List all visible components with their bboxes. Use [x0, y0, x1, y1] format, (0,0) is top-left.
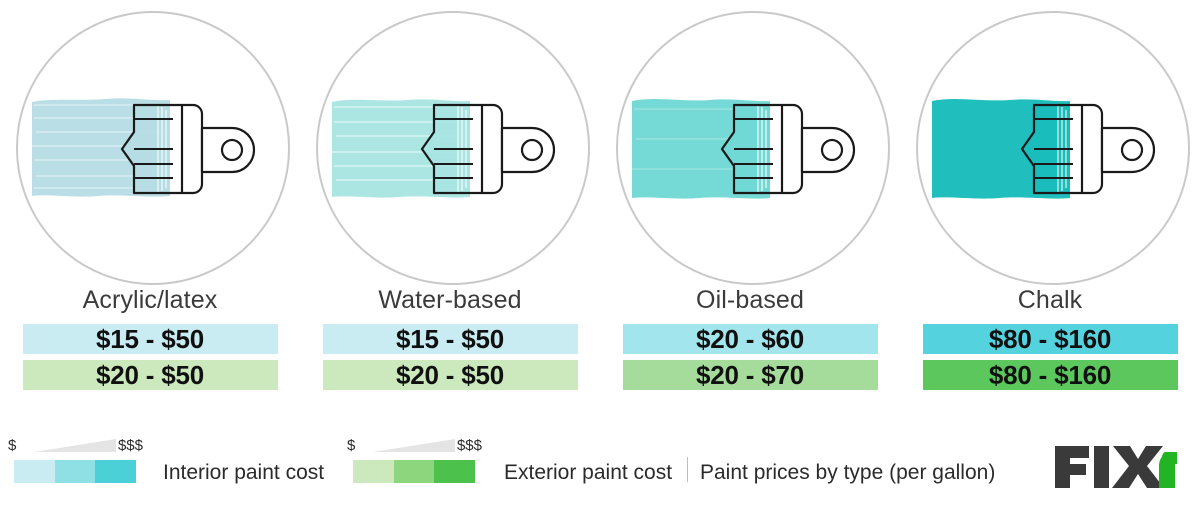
- interior-low-cost-symbol: $: [8, 438, 16, 453]
- legend-exterior: $ $$$: [347, 438, 482, 486]
- paintbrush-icon: [610, 6, 890, 290]
- paintbrush-illustration-2: [310, 6, 590, 290]
- exterior-high-cost-symbol: $$$: [457, 438, 482, 453]
- interior-price-bar: $15 - $50: [23, 324, 278, 354]
- exterior-swatch-3: [434, 460, 475, 483]
- interior-swatch-1: [14, 460, 55, 483]
- chart-caption: Paint prices by type (per gallon): [700, 462, 995, 483]
- price-bars: $15 - $50 $20 - $50: [23, 324, 278, 390]
- interior-price-bar: $80 - $160: [923, 324, 1178, 354]
- exterior-price-bar: $20 - $70: [623, 360, 878, 390]
- paintbrush-icon: [910, 6, 1190, 290]
- paintbrush-illustration-4: [910, 6, 1190, 290]
- exterior-legend-label: Exterior paint cost: [504, 462, 672, 483]
- paintbrush-illustration-1: [10, 6, 290, 290]
- exterior-price-bar: $80 - $160: [923, 360, 1178, 390]
- paintbrush-icon: [10, 6, 290, 290]
- interior-high-cost-symbol: $$$: [118, 438, 143, 453]
- price-bars: $20 - $60 $20 - $70: [623, 324, 878, 390]
- exterior-price-bar: $20 - $50: [23, 360, 278, 390]
- price-bars: $80 - $160 $80 - $160: [923, 324, 1178, 390]
- exterior-swatch-2: [394, 460, 435, 483]
- interior-price-bar: $15 - $50: [323, 324, 578, 354]
- cost-gradient-wedge-icon: [373, 439, 455, 453]
- paintbrush-illustration-3: [610, 6, 890, 290]
- exterior-low-cost-symbol: $: [347, 438, 355, 453]
- paint-type-column-water-based: Water-based $15 - $50 $20 - $50: [300, 0, 600, 430]
- legend-interior: $ $$$: [8, 438, 143, 486]
- paintbrush-icon: [310, 6, 590, 290]
- paint-type-label: Chalk: [1018, 288, 1082, 313]
- infographic-root: Acrylic/latex $15 - $50 $20 - $50: [0, 0, 1200, 507]
- fixr-logo-icon: [1053, 444, 1178, 490]
- paint-type-columns: Acrylic/latex $15 - $50 $20 - $50: [0, 0, 1200, 430]
- interior-swatch-3: [95, 460, 136, 483]
- paint-type-column-oil-based: Oil-based $20 - $60 $20 - $70: [600, 0, 900, 430]
- exterior-swatch-bar: [353, 460, 475, 483]
- cost-gradient-wedge-icon: [34, 439, 116, 453]
- paint-type-label: Acrylic/latex: [83, 288, 218, 313]
- interior-swatch-2: [55, 460, 96, 483]
- interior-legend-label: Interior paint cost: [163, 462, 324, 483]
- interior-price-bar: $20 - $60: [623, 324, 878, 354]
- paint-type-column-acrylic-latex: Acrylic/latex $15 - $50 $20 - $50: [0, 0, 300, 430]
- interior-cost-scale: $ $$$: [8, 438, 143, 486]
- exterior-swatch-1: [353, 460, 394, 483]
- legend-divider: [687, 457, 688, 482]
- paint-type-label: Oil-based: [696, 288, 804, 313]
- interior-swatch-bar: [14, 460, 136, 483]
- price-bars: $15 - $50 $20 - $50: [323, 324, 578, 390]
- paint-type-label: Water-based: [378, 288, 521, 313]
- exterior-cost-scale: $ $$$: [347, 438, 482, 486]
- exterior-price-bar: $20 - $50: [323, 360, 578, 390]
- legend: $ $$$ Interior paint cost $ $$$: [0, 430, 1200, 507]
- fixr-logo: [1053, 444, 1178, 490]
- paint-type-column-chalk: Chalk $80 - $160 $80 - $160: [900, 0, 1200, 430]
